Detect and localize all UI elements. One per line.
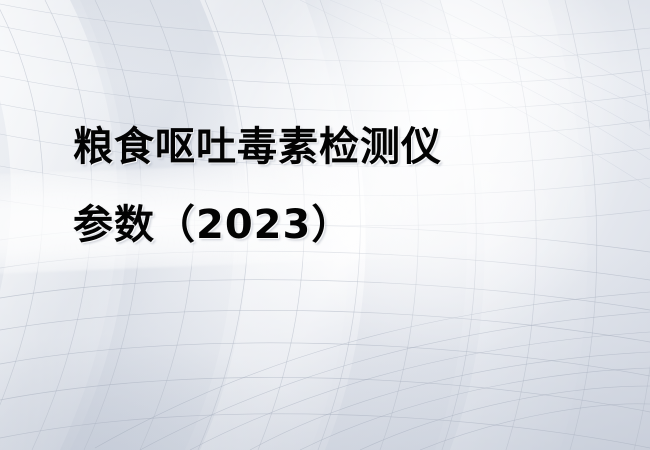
banner-title-line-2: 参数（2023） bbox=[73, 186, 593, 264]
banner-graphic: 粮食呕吐毒素检测仪 参数（2023） bbox=[0, 0, 650, 450]
banner-title-line-1: 粮食呕吐毒素检测仪 bbox=[73, 108, 593, 186]
banner-title: 粮食呕吐毒素检测仪 参数（2023） bbox=[73, 108, 593, 264]
